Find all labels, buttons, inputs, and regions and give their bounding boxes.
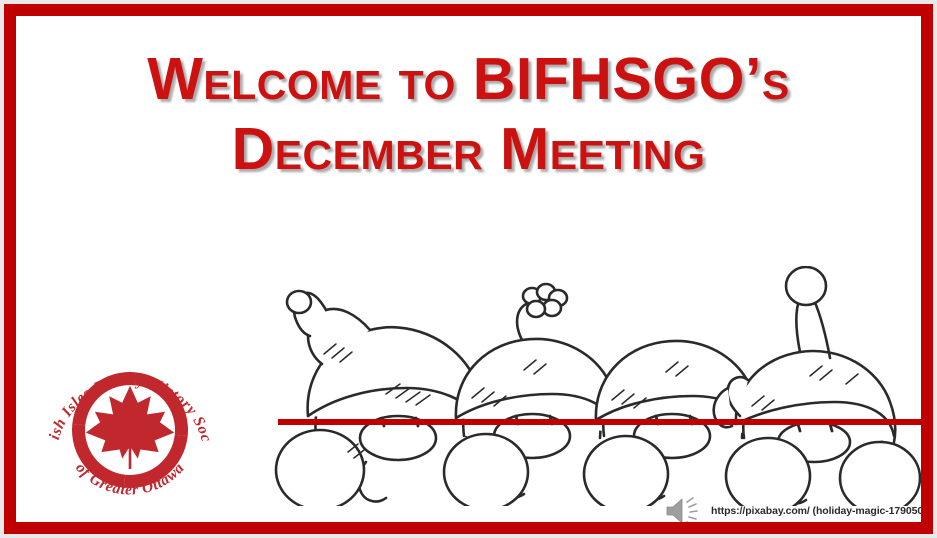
red-accent-line [278,419,922,425]
slide-canvas: Welcome to BIFHSGO’s December Meeting [16,16,921,522]
slide-root: Welcome to BIFHSGO’s December Meeting [0,0,937,538]
snowman-4 [714,267,920,506]
page-title-line-2: December Meeting [16,120,921,179]
page-title-line-1: Welcome to BIFHSGO’s [16,50,921,109]
page-title: Welcome to BIFHSGO’s December Meeting [16,50,921,179]
audio-credit: https://pixabay.com/ (holiday-magic-1790… [664,494,933,528]
audio-credit-url[interactable]: https://pixabay.com/ (holiday-magic-1790… [711,505,933,517]
maple-leaf-icon [86,386,174,469]
snowmen-illustration [274,266,924,506]
bifhsgo-logo: British Isles Family History Society of … [40,338,220,518]
slide-red-frame: Welcome to BIFHSGO’s December Meeting [4,4,933,534]
speaker-icon[interactable] [664,496,704,526]
